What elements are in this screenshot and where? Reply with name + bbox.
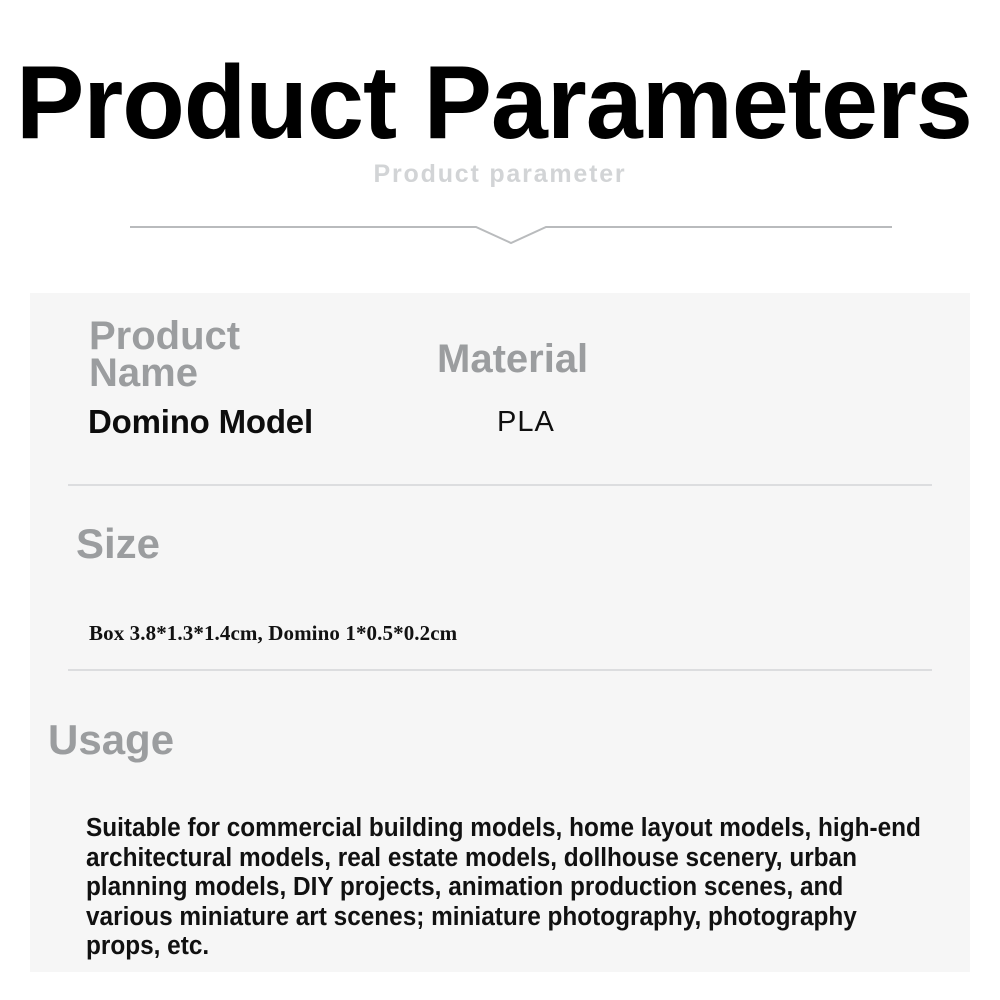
row-separator (68, 484, 932, 486)
header-divider (130, 210, 892, 255)
material-label: Material (437, 337, 588, 381)
size-value: Box 3.8*1.3*1.4cm, Domino 1*0.5*0.2cm (89, 620, 457, 646)
usage-value: Suitable for commercial building models,… (86, 814, 926, 962)
page-header: Product Parameters Product parameter (0, 0, 1000, 293)
material-value: PLA (497, 405, 555, 439)
row-separator (68, 669, 932, 671)
product-name-label: Product Name (89, 318, 289, 392)
size-label: Size (76, 521, 160, 567)
page-title: Product Parameters (16, 48, 969, 158)
usage-label: Usage (48, 717, 174, 763)
product-name-value: Domino Model (88, 403, 313, 441)
page-subtitle: Product parameter (0, 160, 1000, 189)
chevron-down-notch-icon (130, 210, 892, 255)
parameter-card: Product Name Domino Model Material PLA S… (30, 293, 970, 972)
